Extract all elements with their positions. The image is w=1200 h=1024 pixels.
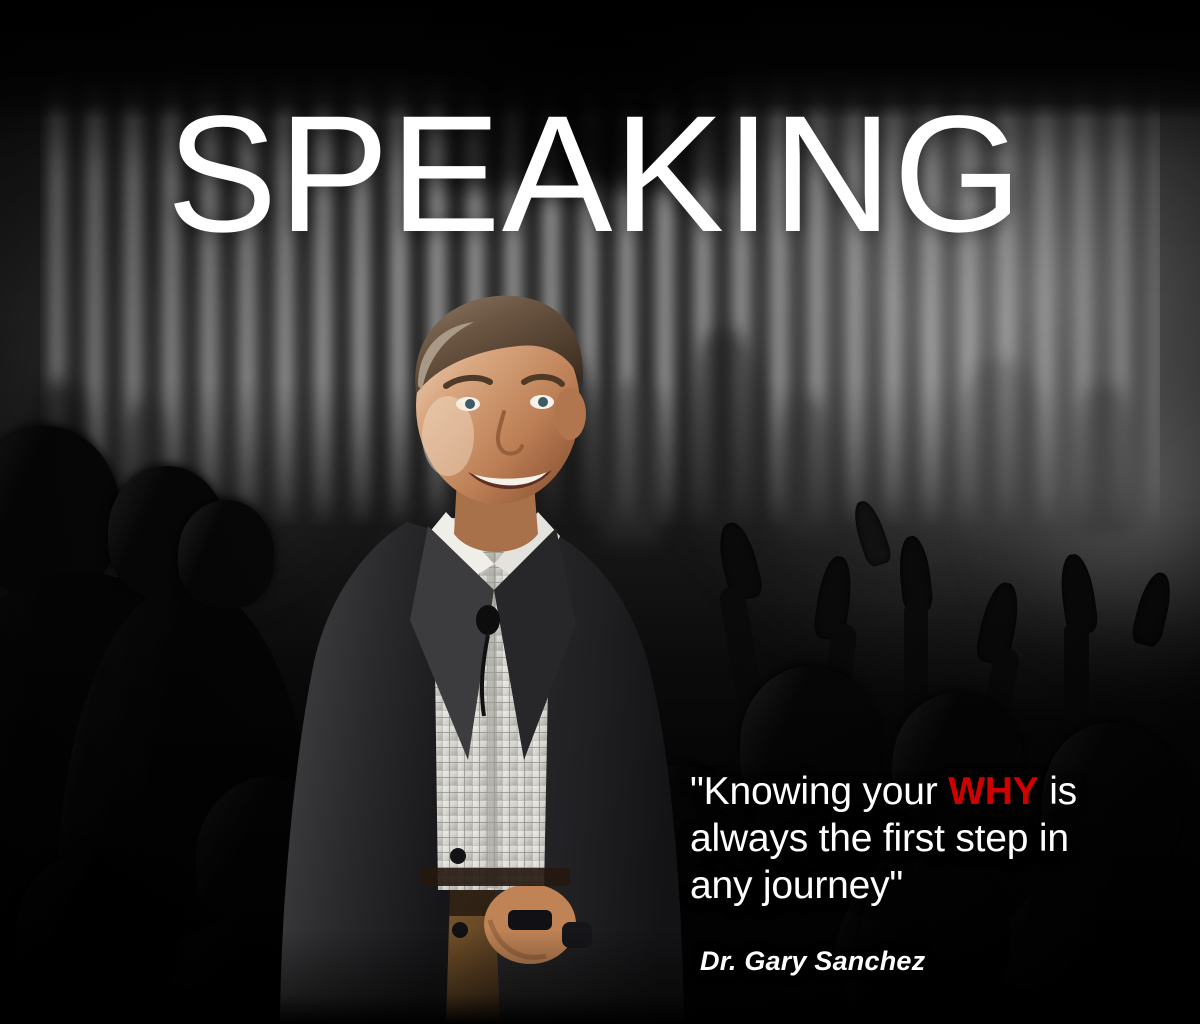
jacket-button (452, 922, 468, 938)
jacket-button (450, 848, 466, 864)
speaker-belt (420, 868, 570, 886)
quote-part-one: "Knowing your (690, 770, 948, 813)
lapel-microphone (476, 605, 500, 635)
quote-text: "Knowing your WHY is always the first st… (690, 768, 1130, 909)
speaker-portrait (232, 290, 752, 1024)
quote-highlight-why: WHY (948, 770, 1038, 813)
page-title: SPEAKING (0, 92, 1200, 258)
presentation-clicker (508, 910, 552, 930)
speaking-promo-poster: SPEAKING "Knowing your WHY is always the… (0, 0, 1200, 1024)
quote-attribution: Dr. Gary Sanchez (700, 946, 925, 977)
jacket-cuff (562, 922, 592, 948)
